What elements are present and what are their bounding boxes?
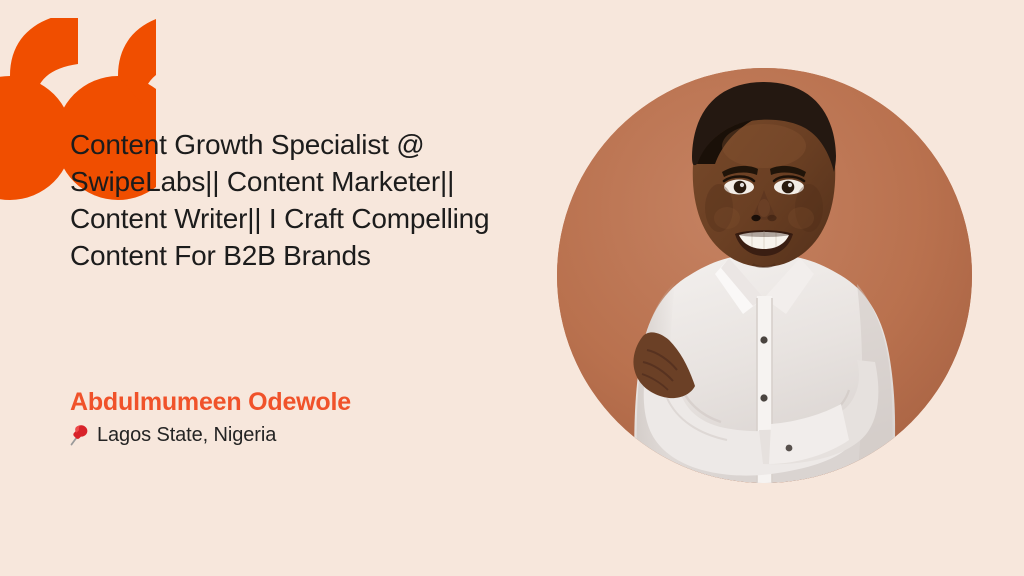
portrait-photo (557, 68, 972, 483)
headline-text: Content Growth Specialist @ SwipeLabs|| … (70, 126, 535, 274)
location-text: Lagos State, Nigeria (97, 423, 276, 447)
person-name: Abdulmumeen Odewole (70, 387, 540, 417)
identity-block: Abdulmumeen Odewole Lagos State, Nigeria (70, 387, 540, 447)
pushpin-icon (70, 424, 90, 446)
location-row: Lagos State, Nigeria (70, 423, 540, 447)
profile-quote-card: Content Growth Specialist @ SwipeLabs|| … (0, 0, 1024, 576)
headline-block: Content Growth Specialist @ SwipeLabs|| … (70, 126, 535, 274)
